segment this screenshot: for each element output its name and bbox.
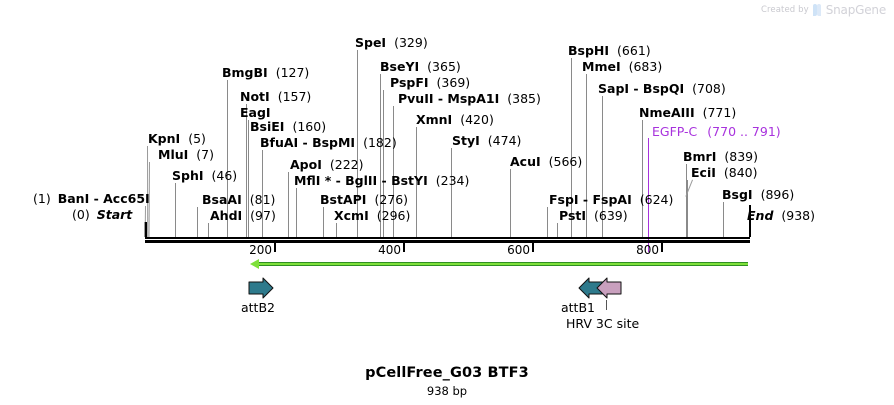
enzyme-position: (5) — [188, 131, 206, 146]
enzyme-label[interactable]: FspI - FspAI(624) — [549, 193, 673, 206]
backbone-bottom-rule — [145, 240, 750, 243]
enzyme-position: (160) — [292, 119, 326, 134]
enzyme-position: (566) — [549, 154, 583, 169]
enzyme-label[interactable]: PstI(639) — [559, 209, 628, 222]
watermark-brand-text: SnapGene — [826, 3, 886, 17]
hrv-3c-leader-tick — [606, 300, 607, 310]
enzyme-label[interactable]: (1)BanI - Acc65I — [33, 192, 150, 205]
enzyme-name: PvuII - MspA1I — [398, 91, 499, 106]
enzyme-leader-line — [288, 172, 289, 237]
enzyme-label[interactable]: SapI - BspQI(708) — [598, 82, 726, 95]
enzyme-position: (276) — [374, 192, 408, 207]
annotation-range: (770 .. 791) — [707, 124, 780, 139]
enzyme-label[interactable]: BstAPI(276) — [320, 193, 408, 206]
enzyme-name: NmeAIII — [639, 105, 695, 120]
enzyme-label[interactable]: (0)Start — [72, 208, 132, 221]
enzyme-name: End — [747, 208, 773, 223]
enzyme-position: (661) — [617, 43, 651, 58]
ruler-tick-label: 600 — [502, 243, 530, 257]
enzyme-leader-line — [208, 223, 209, 237]
enzyme-position: (296) — [377, 208, 411, 223]
backbone-top-rule — [145, 237, 750, 239]
enzyme-position: (896) — [761, 187, 795, 202]
enzyme-label[interactable]: BmrI(839) — [683, 150, 758, 163]
enzyme-label[interactable]: BsiEI(160) — [250, 120, 326, 133]
ruler-tick-label: 400 — [373, 243, 401, 257]
enzyme-position: (708) — [692, 81, 726, 96]
enzyme-name: BanI - Acc65I — [58, 191, 150, 206]
enzyme-leader-line — [723, 202, 724, 237]
annotation-name: EGFP-C — [652, 124, 697, 139]
backbone-end-cap — [749, 205, 751, 237]
enzyme-leader-line — [336, 223, 337, 237]
enzyme-position: (157) — [278, 89, 312, 104]
enzyme-position: (639) — [594, 208, 628, 223]
enzyme-label[interactable]: MluI(7) — [158, 148, 214, 161]
enzyme-name: PstI — [559, 208, 586, 223]
enzyme-name: SapI - BspQI — [598, 81, 684, 96]
enzyme-name: MmeI — [582, 59, 621, 74]
enzyme-position: (0) — [72, 207, 90, 222]
enzyme-label[interactable]: NotI(157) — [240, 90, 311, 103]
enzyme-name: BmgBI — [222, 65, 268, 80]
enzyme-label[interactable]: EciI(840) — [691, 166, 758, 179]
enzyme-position: (839) — [724, 149, 758, 164]
enzyme-name: StyI — [452, 133, 480, 148]
page-title: pCellFree_G03 BTF3 — [0, 365, 894, 381]
enzyme-label[interactable]: PspFI(369) — [390, 76, 470, 89]
ruler-tick-label: 200 — [244, 243, 272, 257]
feature-label-attb1[interactable]: attB1 — [561, 300, 595, 315]
enzyme-leader-line — [451, 148, 452, 237]
ruler-tick — [661, 243, 663, 252]
orf-arrowhead-left — [250, 259, 259, 269]
enzyme-position: (420) — [460, 112, 494, 127]
enzyme-name: EagI — [240, 105, 271, 120]
enzyme-position: (222) — [330, 157, 364, 172]
enzyme-position: (365) — [427, 59, 461, 74]
enzyme-name: KpnI — [148, 131, 180, 146]
enzyme-label[interactable]: SphI(46) — [172, 169, 237, 182]
enzyme-name: MflI * - BglII - BstYI — [294, 173, 428, 188]
enzyme-name: XmnI — [416, 112, 452, 127]
enzyme-label[interactable]: SpeI(329) — [355, 36, 428, 49]
enzyme-position: (683) — [629, 59, 663, 74]
enzyme-position: (840) — [724, 165, 758, 180]
watermark-created-by-text: Created by — [761, 5, 809, 15]
ruler-tick — [532, 243, 534, 252]
enzyme-position: (81) — [250, 192, 276, 207]
feature-label-attb2[interactable]: attB2 — [241, 300, 275, 315]
enzyme-name: AhdI — [210, 208, 242, 223]
snapgene-watermark: Created by SnapGene — [761, 3, 886, 17]
enzyme-label[interactable]: KpnI(5) — [148, 132, 206, 145]
enzyme-name: EciI — [691, 165, 716, 180]
ruler-tick-label: 800 — [631, 243, 659, 257]
enzyme-name: BmrI — [683, 149, 716, 164]
enzyme-leader-line — [296, 188, 297, 237]
enzyme-label[interactable]: BsgI(896) — [722, 188, 794, 201]
enzyme-position: (1) — [33, 191, 51, 206]
enzyme-label[interactable]: BsaAI(81) — [202, 193, 275, 206]
enzyme-name: XcmI — [334, 208, 369, 223]
enzyme-name: BfuAI - BspMI — [260, 135, 355, 150]
enzyme-name: BsiEI — [250, 119, 284, 134]
enzyme-position: (7) — [196, 147, 214, 162]
enzyme-name: SphI — [172, 168, 204, 183]
enzyme-label[interactable]: AcuI(566) — [510, 155, 582, 168]
ruler-tick — [403, 243, 405, 252]
title-block: pCellFree_G03 BTF3 938 bp — [0, 365, 894, 398]
enzyme-name: ApoI — [290, 157, 322, 172]
enzyme-leader-line — [323, 207, 324, 237]
enzyme-label[interactable]: MflI * - BglII - BstYI(234) — [294, 174, 469, 187]
annotation-label-egfp-c[interactable]: EGFP-C(770 .. 791) — [652, 125, 781, 138]
orf-body — [258, 262, 748, 266]
enzyme-leader-line — [547, 207, 548, 237]
enzyme-position: (329) — [394, 35, 428, 50]
enzyme-name: PspFI — [390, 75, 429, 90]
enzyme-label[interactable]: BspHI(661) — [568, 44, 651, 57]
enzyme-leader-line — [642, 120, 643, 237]
enzyme-leader-line — [557, 223, 558, 237]
enzyme-position: (369) — [437, 75, 471, 90]
enzyme-label[interactable]: PvuII - MspA1I(385) — [398, 92, 541, 105]
enzyme-position: (771) — [703, 105, 737, 120]
enzyme-label[interactable]: AhdI(97) — [210, 209, 276, 222]
enzyme-label[interactable]: NmeAIII(771) — [639, 106, 736, 119]
enzyme-name: AcuI — [510, 154, 541, 169]
backbone-start-cap — [145, 222, 147, 237]
ruler-tick — [274, 243, 276, 252]
feature-arrow-hrv-3c-site[interactable] — [596, 277, 622, 303]
enzyme-label[interactable]: ApoI(222) — [290, 158, 364, 171]
enzyme-name: NotI — [240, 89, 270, 104]
enzyme-label[interactable]: End(938) — [747, 209, 815, 222]
enzyme-name: MluI — [158, 147, 188, 162]
enzyme-position: (938) — [781, 208, 815, 223]
snapgene-logo-icon — [813, 4, 822, 16]
enzyme-name: BseYI — [380, 59, 419, 74]
enzyme-label[interactable]: EagI — [240, 106, 271, 119]
enzyme-label[interactable]: BmgBI(127) — [222, 66, 309, 79]
enzyme-name: Start — [97, 207, 133, 222]
enzyme-position: (97) — [250, 208, 276, 223]
enzyme-label[interactable]: MmeI(683) — [582, 60, 662, 73]
enzyme-position: (624) — [640, 192, 674, 207]
enzyme-leader-line — [197, 207, 198, 237]
enzyme-leader-line — [510, 169, 511, 237]
enzyme-position: (127) — [276, 65, 310, 80]
enzyme-position: (234) — [436, 173, 470, 188]
enzyme-name: BstAPI — [320, 192, 366, 207]
enzyme-label[interactable]: BfuAI - BspMI(182) — [260, 136, 397, 149]
enzyme-name: FspI - FspAI — [549, 192, 632, 207]
enzyme-name: BsaAI — [202, 192, 242, 207]
enzyme-position: (182) — [363, 135, 397, 150]
enzyme-label[interactable]: StyI(474) — [452, 134, 521, 147]
enzyme-position: (46) — [212, 168, 238, 183]
enzyme-label[interactable]: BseYI(365) — [380, 60, 461, 73]
snapgene-plasmid-map: Created by SnapGene (1)BanI - Acc65I(0)S… — [0, 0, 894, 405]
enzyme-position: (474) — [488, 133, 522, 148]
enzyme-name: SpeI — [355, 35, 386, 50]
enzyme-leader-line — [175, 183, 176, 237]
plasmid-size-label: 938 bp — [0, 384, 894, 398]
enzyme-name: BsgI — [722, 187, 753, 202]
enzyme-position: (385) — [507, 91, 541, 106]
enzyme-label[interactable]: XmnI(420) — [416, 113, 494, 126]
enzyme-name: BspHI — [568, 43, 609, 58]
enzyme-label[interactable]: XcmI(296) — [334, 209, 410, 222]
feature-label-hrv-3c-site[interactable]: HRV 3C site — [566, 316, 639, 331]
